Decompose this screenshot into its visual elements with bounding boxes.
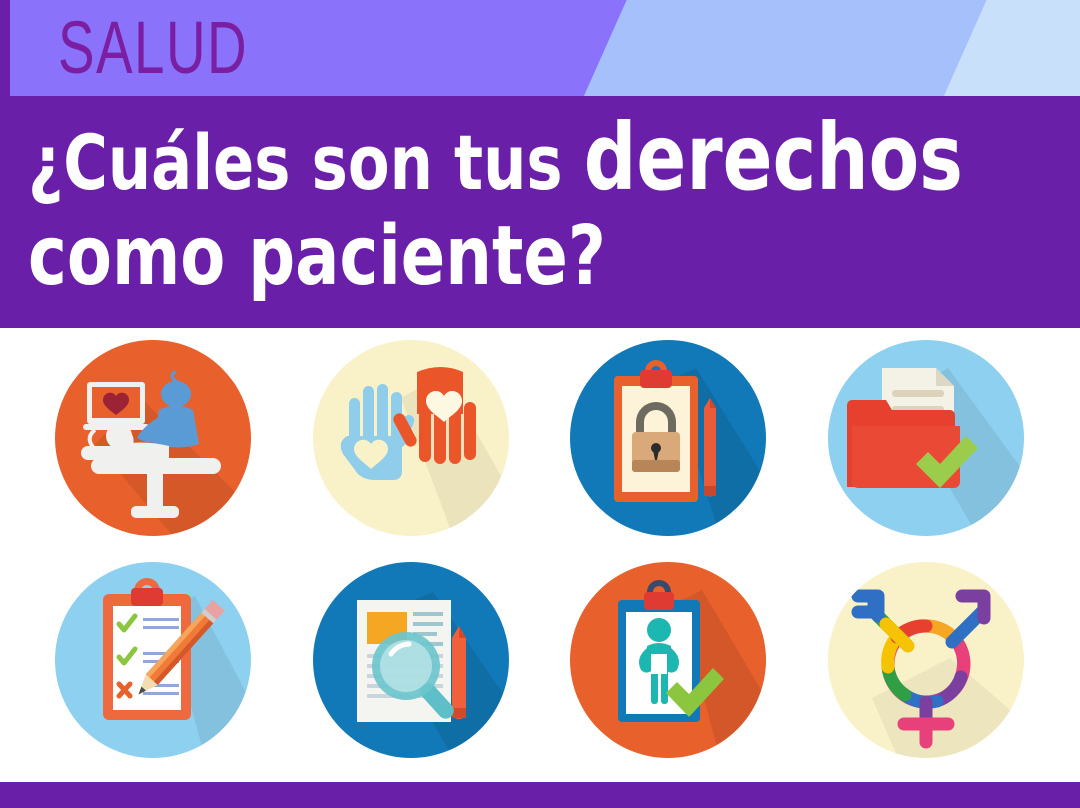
title-line-2: como paciente? (28, 209, 860, 305)
bottom-accent-bar (0, 782, 1080, 808)
patient-on-exam-table-with-doctor-icon (55, 340, 251, 536)
kicker-left-edge (0, 0, 10, 96)
icon-circle (570, 562, 766, 758)
icon-clipboard-lock[interactable] (570, 340, 770, 540)
clipboard-with-padlock-and-pencil-icon (570, 340, 766, 536)
page-title: ¿Cuáles son tus derechos como paciente? (28, 106, 1068, 305)
rainbow-transgender-symbol-icon (828, 562, 1024, 758)
clipboard-with-person-and-checkmark-icon (570, 562, 766, 758)
icon-patient-record-approved[interactable] (570, 562, 770, 762)
two-hands-with-hearts-icon (313, 340, 509, 536)
folder-with-document-and-checkmark-icon (828, 340, 1024, 536)
title-part-question: ¿Cuáles son tus (28, 118, 584, 207)
document-with-magnifying-glass-and-pencil-icon (313, 562, 509, 758)
icon-circle (570, 340, 766, 536)
kicker-label: SALUD (58, 2, 248, 94)
icon-circle (828, 340, 1024, 536)
infographic-page: SALUD ¿Cuáles son tus derechos como paci… (0, 0, 1080, 808)
icon-folder-check[interactable] (828, 340, 1028, 540)
headline-banner: ¿Cuáles son tus derechos como paciente? (0, 96, 1080, 328)
icon-gender-identity[interactable] (828, 562, 1028, 762)
icon-circle (55, 562, 251, 758)
icon-circle (828, 562, 1024, 758)
icon-circle (313, 340, 509, 536)
icon-grid (0, 330, 1080, 782)
kicker-bar: SALUD (0, 0, 1080, 96)
icon-document-magnifier[interactable] (313, 562, 513, 762)
icon-patient-exam-bed[interactable] (55, 340, 255, 540)
icon-caring-hands[interactable] (313, 340, 513, 540)
title-part-emphasis: derechos (584, 104, 963, 211)
checklist-clipboard-with-pencil-icon (55, 562, 251, 758)
icon-circle (55, 340, 251, 536)
icon-circle (313, 562, 509, 758)
icon-checklist-pencil[interactable] (55, 562, 255, 762)
